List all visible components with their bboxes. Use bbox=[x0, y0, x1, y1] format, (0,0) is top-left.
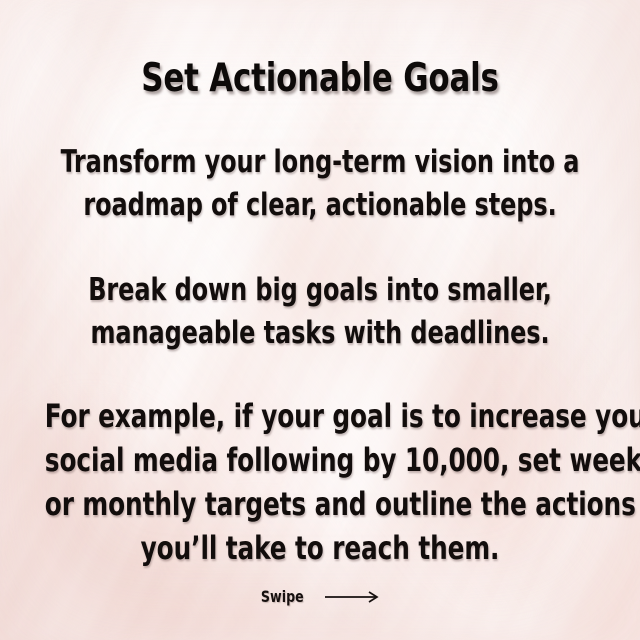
paragraph-3-line-4: you’ll take to reach them. bbox=[45, 526, 595, 570]
slide-content: Set Actionable Goals Transform your long… bbox=[0, 0, 640, 640]
paragraph-1: Transform your long-term vision into a r… bbox=[45, 141, 595, 227]
paragraph-2: Break down big goals into smaller, manag… bbox=[45, 269, 595, 355]
swipe-label: Swipe bbox=[261, 588, 304, 606]
paragraph-2-line-2: manageable tasks with deadlines. bbox=[45, 312, 595, 355]
paragraph-3: For example, if your goal is to increase… bbox=[45, 394, 595, 570]
paragraph-3-line-2: social media following by 10,000, set we… bbox=[45, 438, 595, 482]
paragraph-3-line-3: or monthly targets and outline the actio… bbox=[45, 482, 595, 526]
paragraph-1-line-1: Transform your long-term vision into a bbox=[45, 141, 595, 184]
slide-title: Set Actionable Goals bbox=[38, 59, 601, 98]
paragraph-1-line-2: roadmap of clear, actionable steps. bbox=[45, 184, 595, 227]
paragraph-2-line-1: Break down big goals into smaller, bbox=[45, 269, 595, 312]
paragraph-3-line-1: For example, if your goal is to increase… bbox=[45, 394, 595, 438]
social-media-slide: Set Actionable Goals Transform your long… bbox=[0, 0, 640, 640]
arrow-right-icon bbox=[324, 590, 382, 604]
swipe-prompt[interactable]: Swipe bbox=[0, 588, 640, 606]
